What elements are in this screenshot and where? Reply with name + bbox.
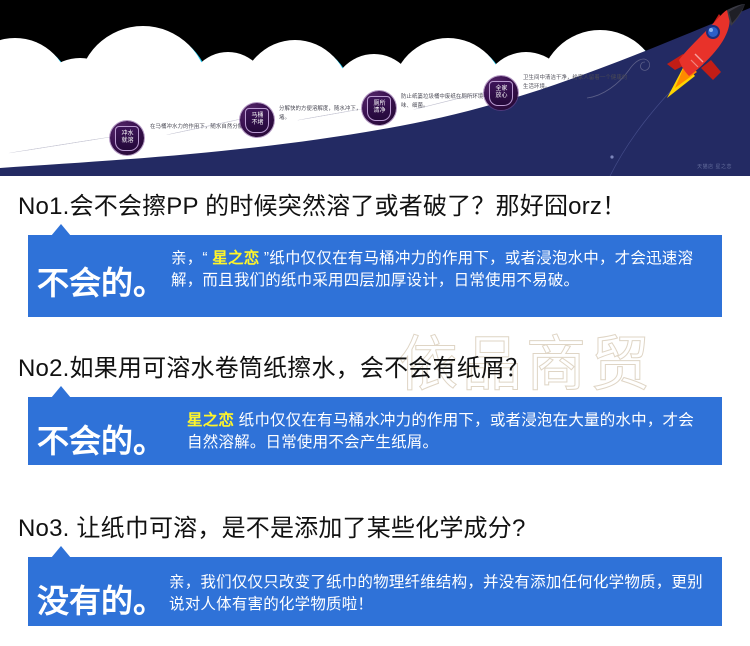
feature-badge-4[interactable]: 全家 放心 [484, 76, 518, 110]
badge-label-line2: 放心 [495, 93, 507, 99]
brand-highlight: 星之恋 [187, 412, 234, 429]
question-title-2: No2.如果用可溶水卷筒纸擦水，会不会有纸屑？ [18, 348, 750, 383]
feature-badge-4-desc: 卫生间中清洁干净，给家人留着一个健康的生活环境。 [523, 74, 631, 92]
rocket-icon [655, 2, 750, 107]
answer-text-3: 亲，我们仅仅只改变了纸巾的物理纤维结构，并没有添加任何化学物质，更别说对人体有害… [169, 572, 707, 617]
question-title-1: No1.会不会擦PP 的时候突然溶了或者破了？那好囧orz！ [18, 186, 750, 221]
qa-block-1: No1.会不会擦PP 的时候突然溶了或者破了？那好囧orz！ 不会的。 亲，“ … [0, 186, 750, 317]
answer-prefix: 亲，我们仅仅只改变了纸巾的物理纤维结构，并没有添加任何化学物质，更别说对人体有害… [169, 574, 703, 613]
feature-badge-2[interactable]: 马桶 不堵 [240, 103, 274, 137]
feature-badge-3[interactable]: 厕所 清净 [362, 91, 396, 125]
feature-badge-1[interactable]: 冲水 就溶 [110, 121, 144, 155]
answer-box-1: 不会的。 亲，“ 星之恋 ”纸巾仅仅在有马桶冲力的作用下，或者浸泡水中，才会迅速… [28, 235, 722, 317]
qa-block-2: No2.如果用可溶水卷筒纸擦水，会不会有纸屑？ 不会的。 星之恋 纸巾仅仅在有马… [0, 348, 750, 465]
answer-label-3: 没有的。 [37, 576, 165, 622]
answer-label-1: 不会的。 [37, 258, 165, 304]
badge-shield-icon: 全家 放心 [489, 81, 513, 106]
badge-label-line2: 不堵 [251, 120, 263, 126]
answer-box-2: 不会的。 星之恋 纸巾仅仅在有马桶水冲力的作用下，或者浸泡在大量的水中，才会自然… [28, 397, 722, 465]
answer-label-2: 不会的。 [37, 416, 165, 462]
badge-shield-icon: 马桶 不堵 [245, 108, 269, 133]
badge-shield-icon: 厕所 清净 [367, 96, 391, 121]
question-title-3: No3. 让纸巾可溶，是不是添加了某些化学成分? [18, 508, 750, 543]
answer-box-3: 没有的。 亲，我们仅仅只改变了纸巾的物理纤维结构，并没有添加任何化学物质，更别说… [28, 557, 722, 626]
header-banner: 冲水 就溶 在马桶冲水力的作用下，随水自然分解。 马桶 不堵 分解快的方便溶解度… [0, 0, 750, 176]
answer-suffix: 纸巾仅仅在有马桶水冲力的作用下，或者浸泡在大量的水中，才会自然溶解。日常使用不会… [187, 412, 694, 451]
answer-prefix: 亲，“ [171, 250, 212, 267]
brand-highlight: 星之恋 [212, 250, 259, 267]
answer-text-1: 亲，“ 星之恋 ”纸巾仅仅在有马桶冲力的作用下，或者浸泡水中，才会迅速溶解，而且… [171, 248, 707, 293]
badge-label-line2: 清净 [373, 108, 385, 114]
banner-watermark: 天猫店 星之恋 [697, 163, 732, 170]
answer-text-2: 星之恋 纸巾仅仅在有马桶水冲力的作用下，或者浸泡在大量的水中，才会自然溶解。日常… [187, 410, 707, 455]
badge-label-line2: 就溶 [121, 138, 133, 144]
qa-block-3: No3. 让纸巾可溶，是不是添加了某些化学成分? 没有的。 亲，我们仅仅只改变了… [0, 508, 750, 626]
badge-shield-icon: 冲水 就溶 [115, 126, 139, 151]
